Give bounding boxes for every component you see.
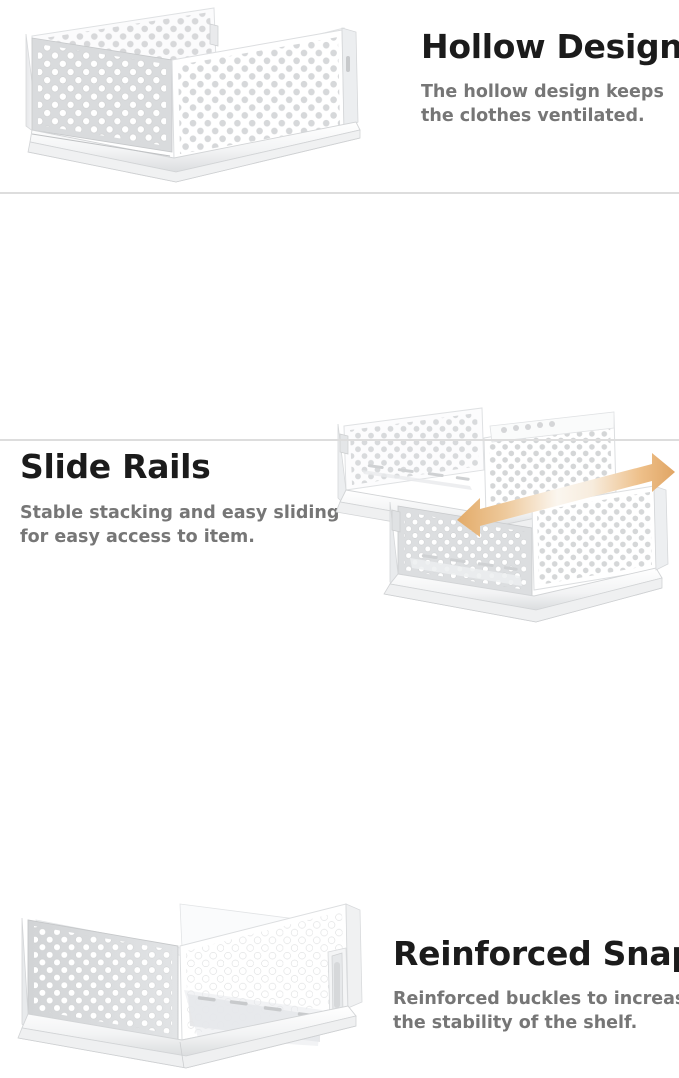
headline-hollow-design: Hollow Design [421,30,679,65]
drawer-body [26,8,360,182]
product-feature-infographic: Hollow Design The hollow design keeps th… [0,0,679,638]
headline-reinforced-snap: Reinforced Snap [393,937,679,972]
feature-text-hollow-design: Hollow Design The hollow design keeps th… [421,30,679,129]
subtext-hollow-design: The hollow design keeps the clothes vent… [421,80,679,130]
subtext-reinforced-snap: Reinforced buckles to increase the stabi… [393,987,679,1037]
drawer-body [18,904,362,1068]
feature-panel-hollow-design: Hollow Design The hollow design keeps th… [0,0,679,193]
product-image-hollow-design [4,2,384,192]
feature-panel-reinforced-snap: Reinforced Snap Reinforced buckles to in… [0,440,679,638]
product-image-reinforced-snap [2,890,384,1078]
feature-panel-slide-rails: Slide Rails Stable stacking and easy sli… [0,193,679,440]
feature-text-reinforced-snap: Reinforced Snap Reinforced buckles to in… [393,937,679,1036]
